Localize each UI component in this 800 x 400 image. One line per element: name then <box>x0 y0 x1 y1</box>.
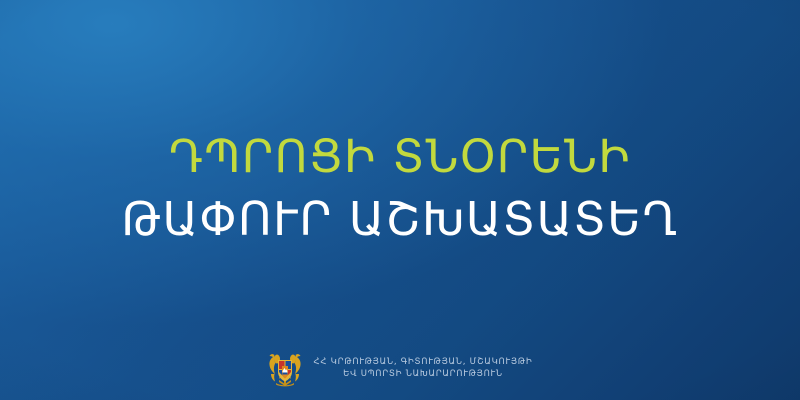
ministry-line-1: ՀՀ ԿՐԹՈՒԹՅԱՆ, ԳԻՏՈՒԹՅԱՆ, ՄՇԱԿՈՒՅԹԻ <box>314 356 533 368</box>
ministry-name: ՀՀ ԿՐԹՈՒԹՅԱՆ, ԳԻՏՈՒԹՅԱՆ, ՄՇԱԿՈՒՅԹԻ ԵՎ ՍՊ… <box>314 356 533 380</box>
announcement-banner: ԴՊՐՈՑԻ ՏՆՕՐԵՆԻ ԹԱՓՈՒՐ ԱՇԽԱՏԱՏԵՂ <box>0 0 800 400</box>
headline-line-2: ԹԱՓՈՒՐ ԱՇԽԱՏԱՏԵՂ <box>0 188 800 250</box>
headline-block: ԴՊՐՈՑԻ ՏՆՕՐԵՆԻ ԹԱՓՈՒՐ ԱՇԽԱՏԱՏԵՂ <box>0 126 800 250</box>
footer-branding: ՀՀ ԿՐԹՈՒԹՅԱՆ, ԳԻՏՈՒԹՅԱՆ, ՄՇԱԿՈՒՅԹԻ ԵՎ ՍՊ… <box>0 342 800 394</box>
headline-line-1: ԴՊՐՈՑԻ ՏՆՕՐԵՆԻ <box>0 126 800 188</box>
ministry-line-2: ԵՎ ՍՊՈՐՏԻ ՆԱԽԱՐԱՐՈՒԹՅՈՒՆ <box>314 368 533 380</box>
armenian-coat-of-arms-icon <box>268 349 302 387</box>
